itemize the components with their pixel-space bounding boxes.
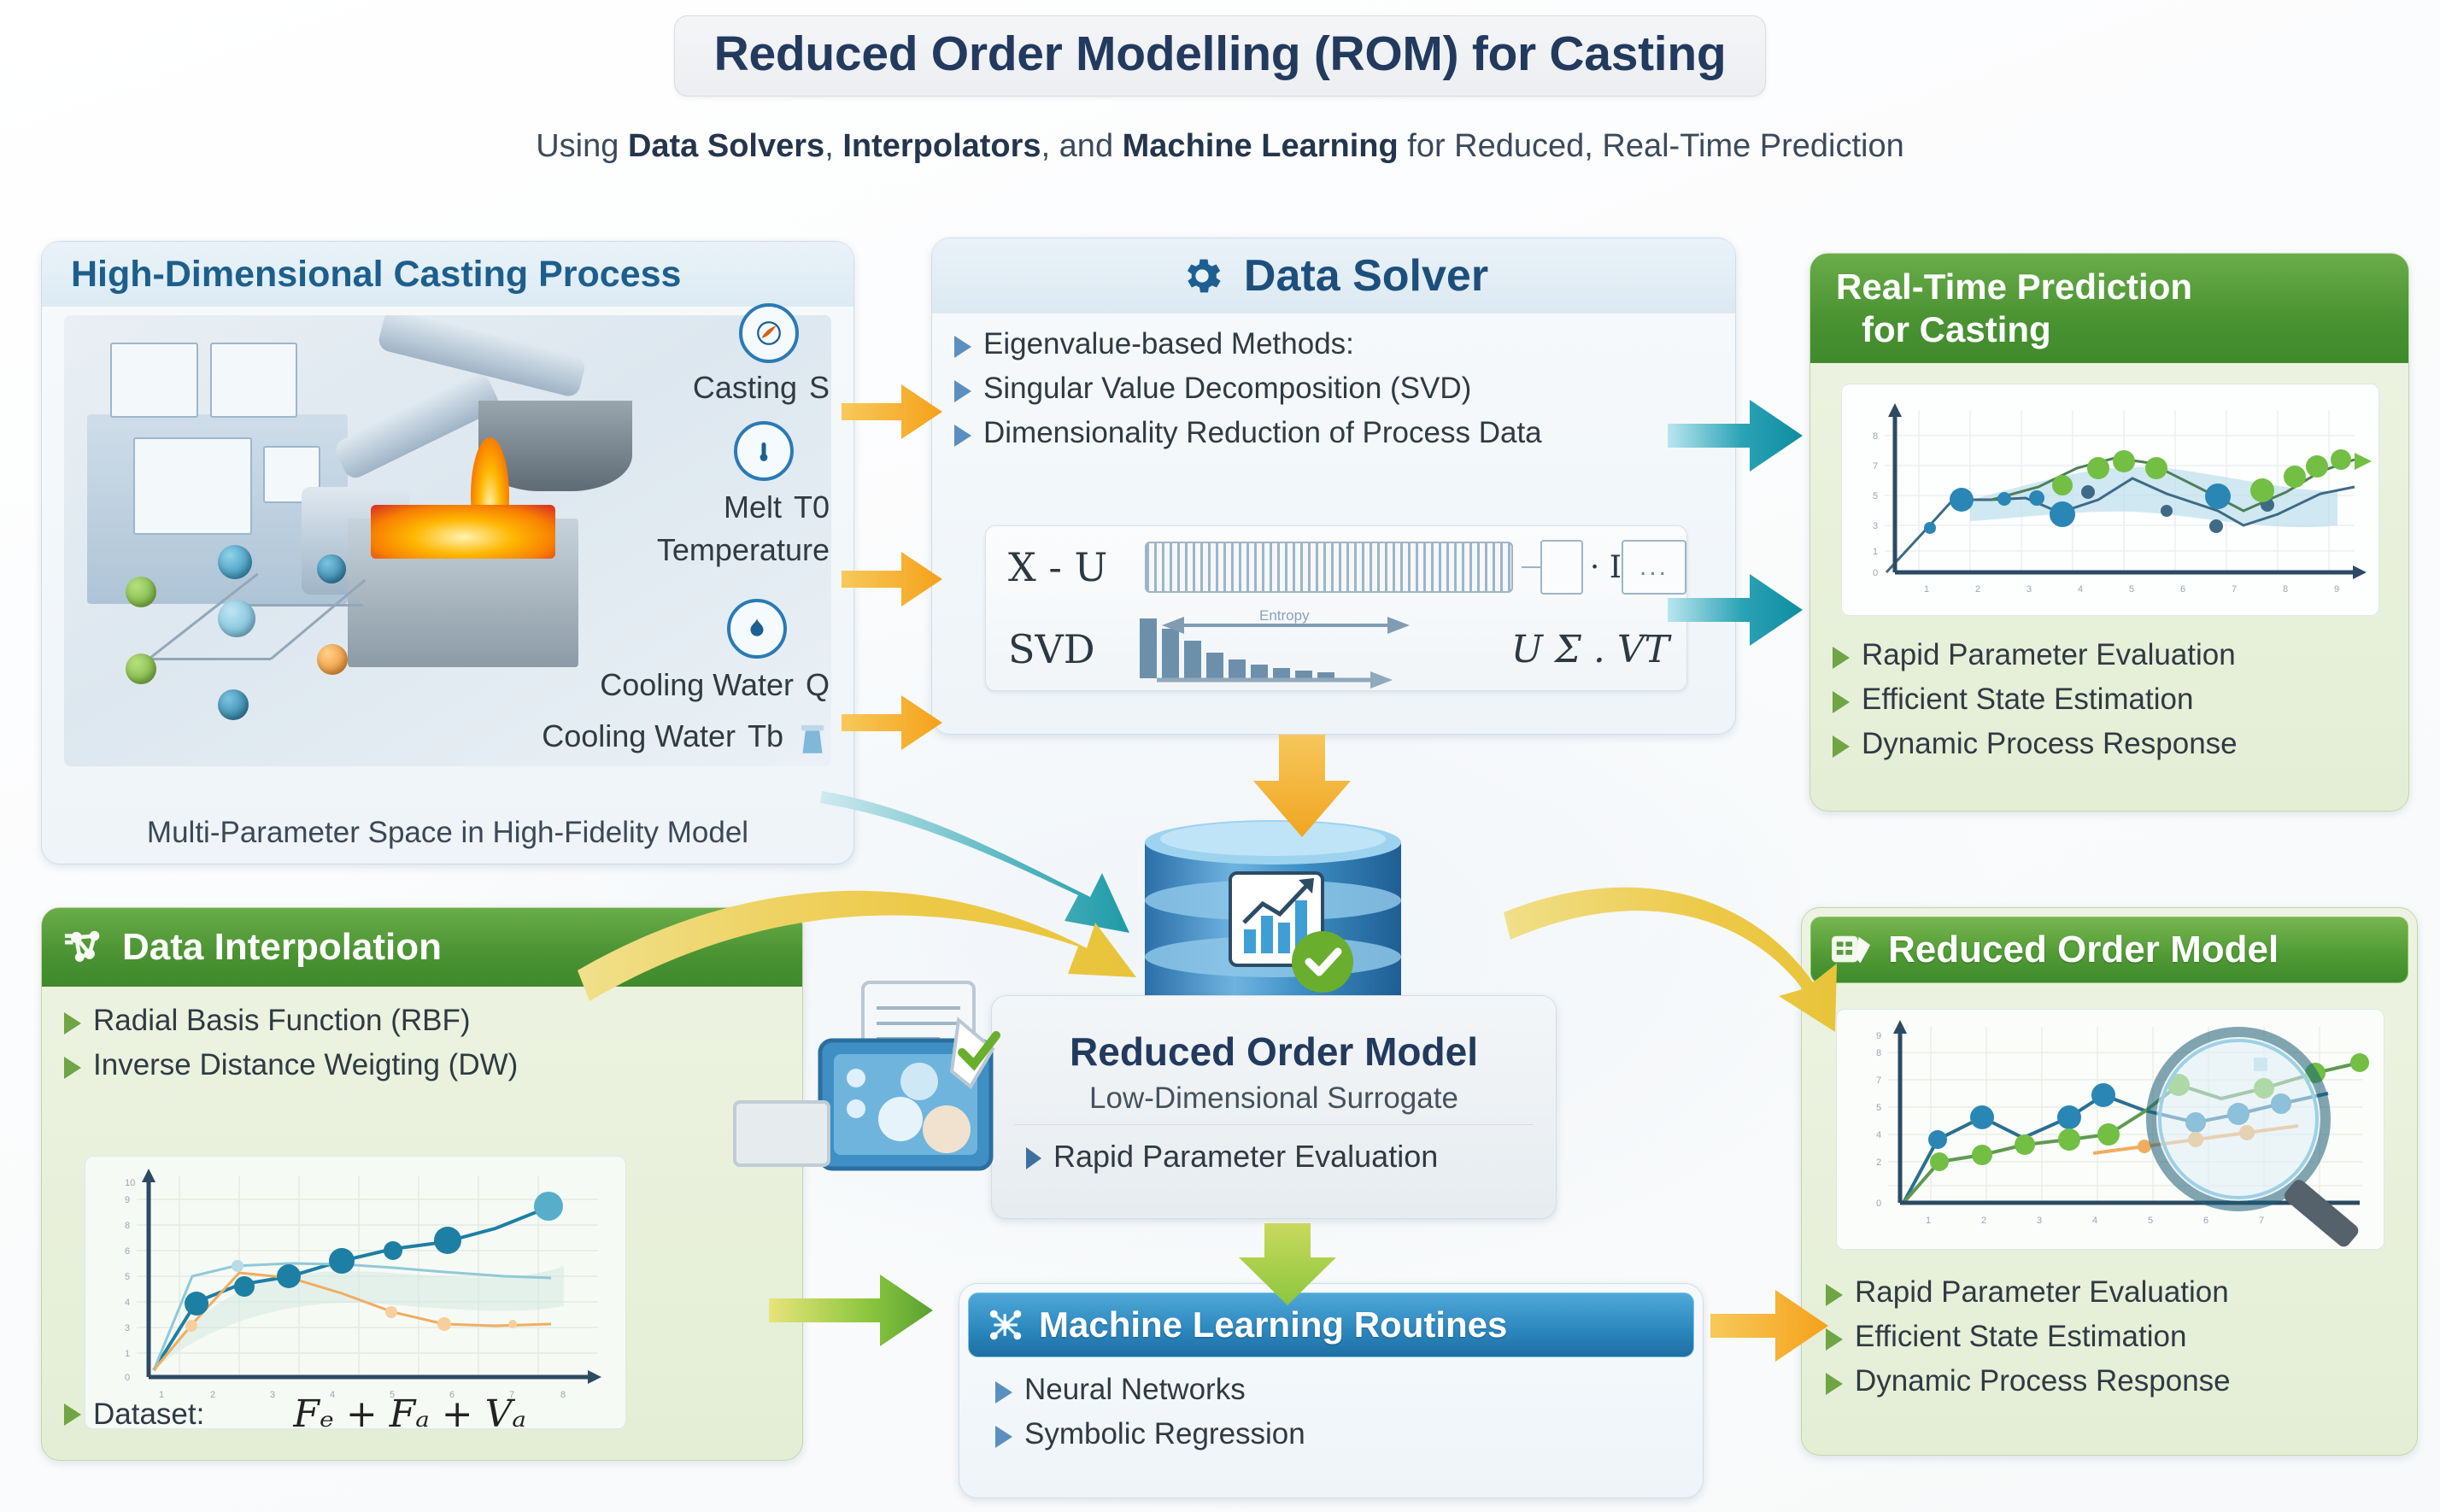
arrow-layer [0,0,2440,1512]
arrow-interpolation-to-ml [769,1275,933,1346]
arrow-solver-to-realtime-1 [1668,400,1803,472]
arrow-rom-to-rompanel-curve [1504,888,1837,1032]
arrow-casting-to-solver-2 [842,552,942,607]
infographic-root: Reduced Order Modelling (ROM) for Castin… [0,0,2440,1512]
arrow-rom-to-ml-down [1239,1223,1336,1305]
device-cluster-illustration [718,974,1076,1230]
arrow-casting-to-solver-3 [842,695,942,750]
arrow-solver-to-realtime-2 [1668,574,1803,646]
arrow-ml-to-rompanel [1710,1290,1828,1362]
arrow-solver-to-rom-down [1253,735,1351,837]
arrow-casting-to-solver-1 [842,384,942,439]
